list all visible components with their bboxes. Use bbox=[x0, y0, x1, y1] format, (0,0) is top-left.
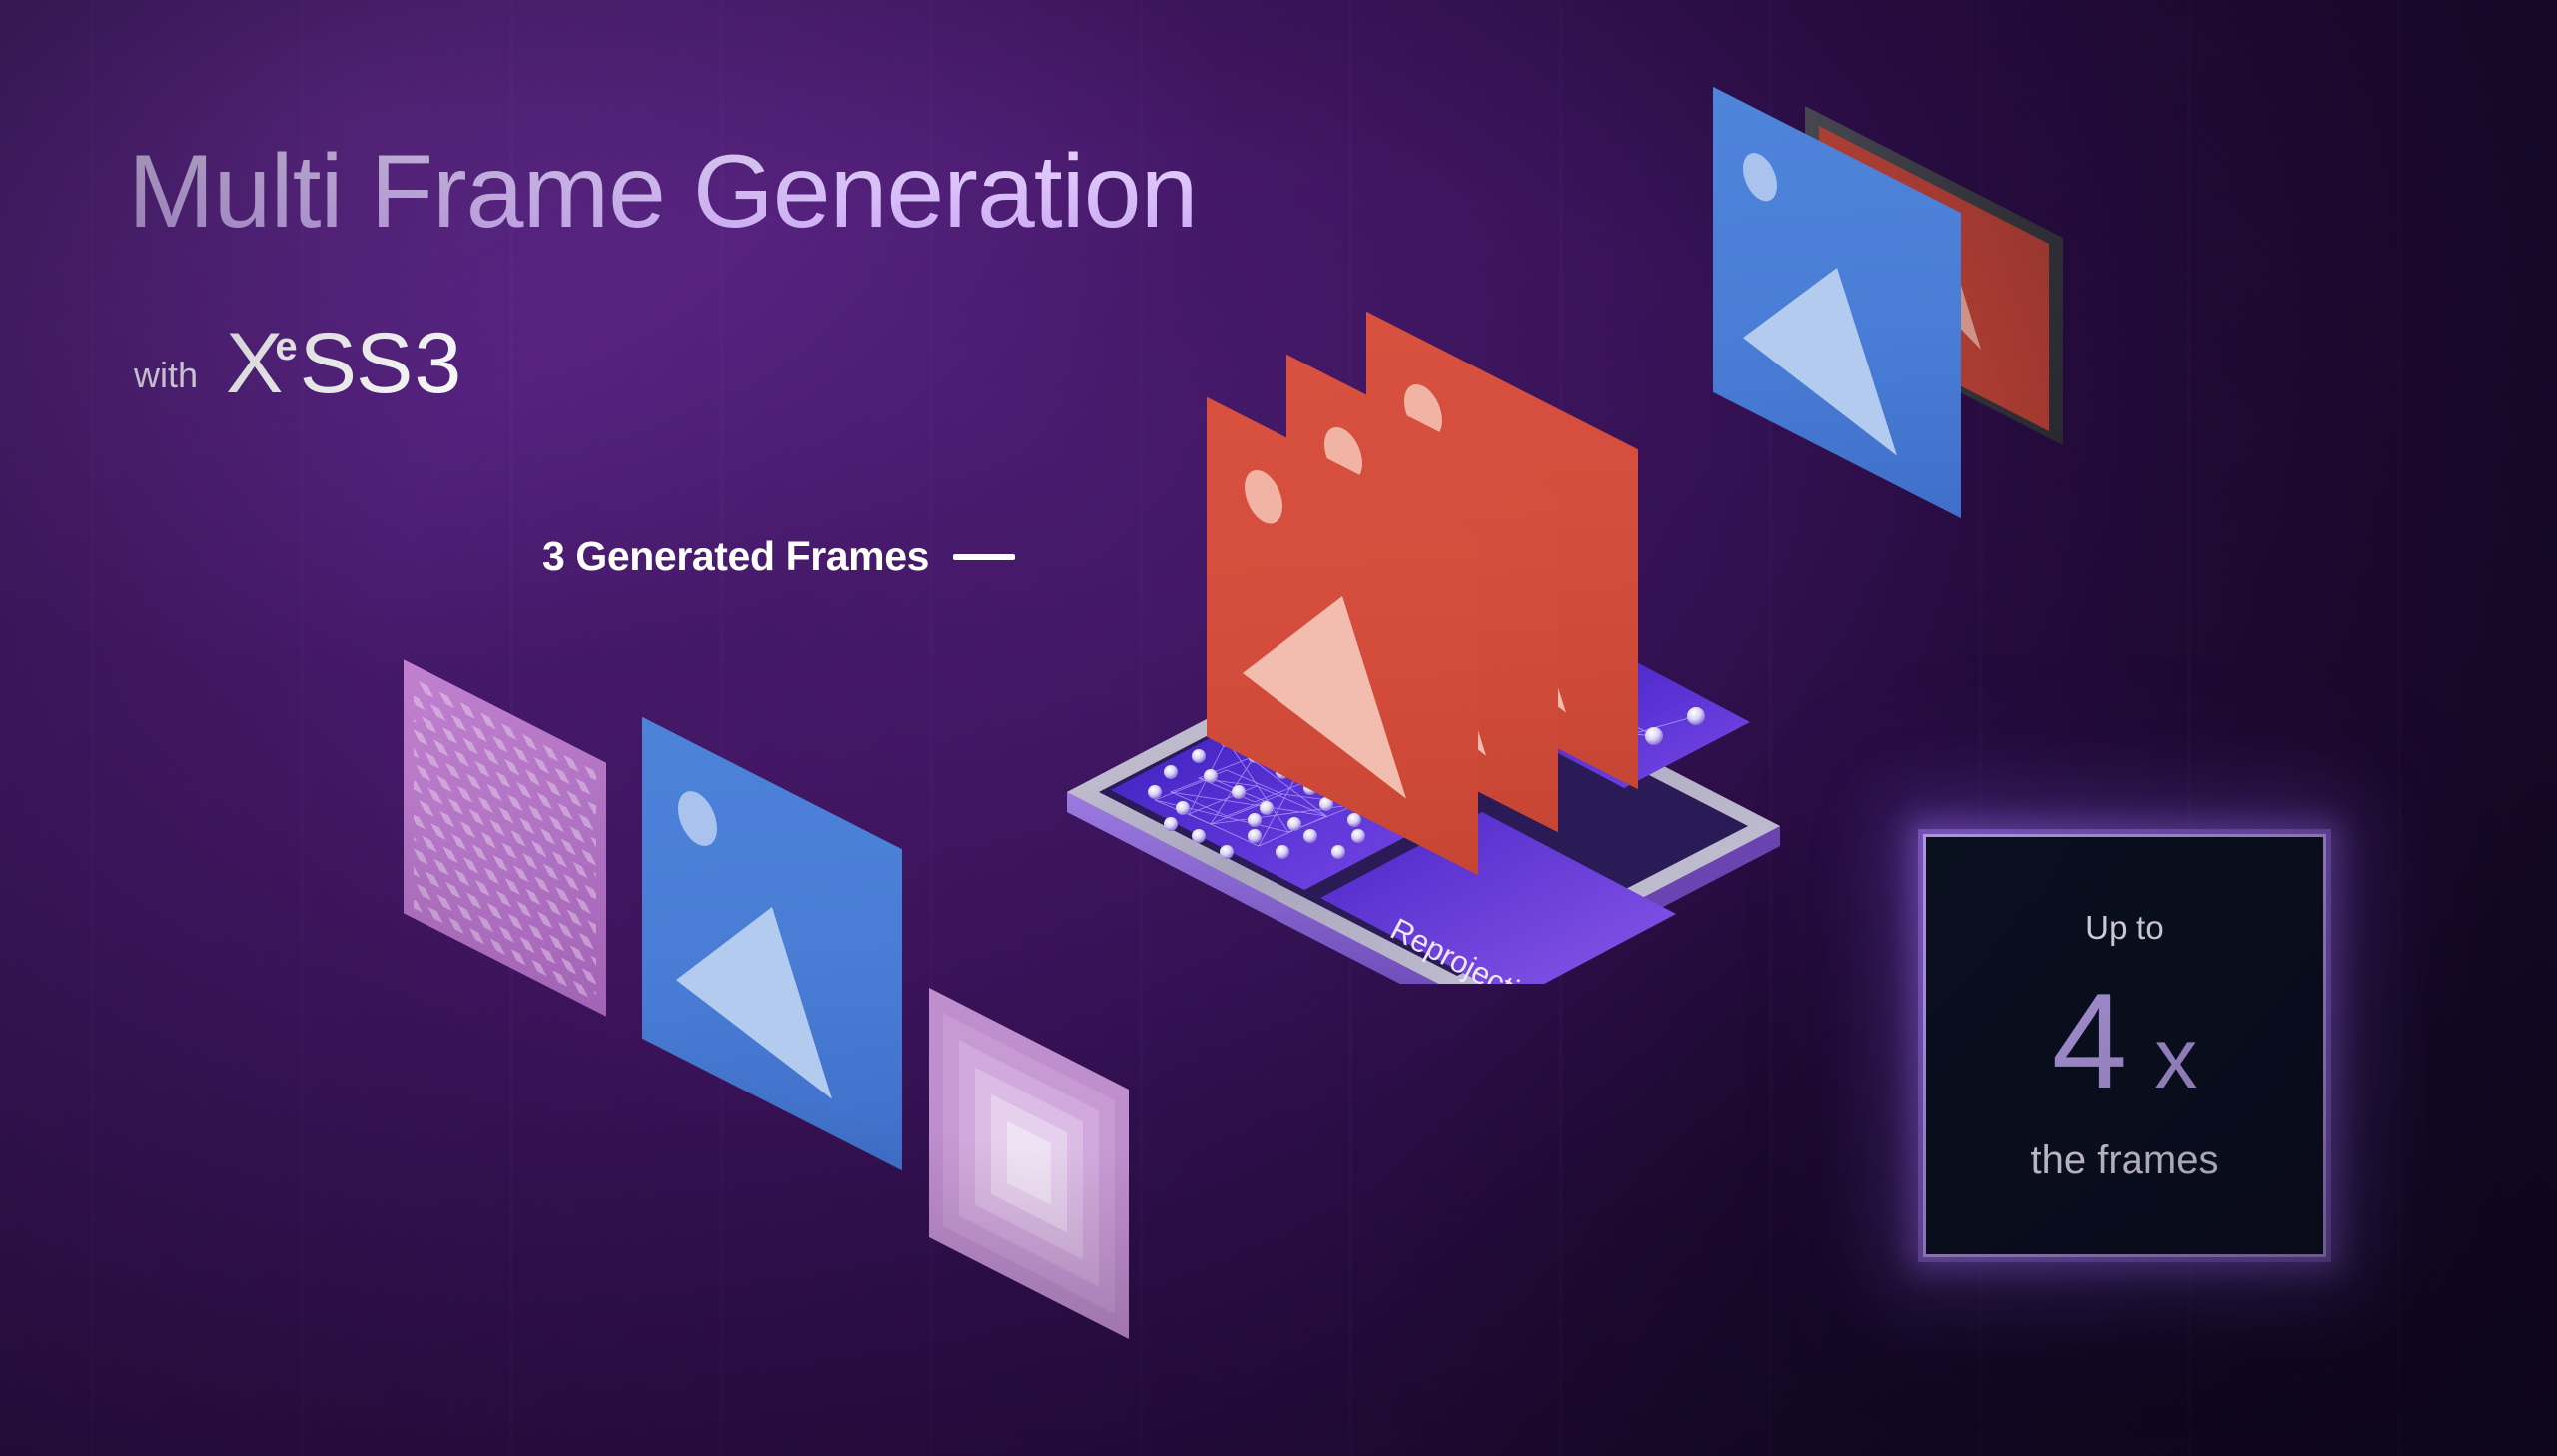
motion-vector-arrows bbox=[414, 674, 596, 1001]
output-monitor bbox=[1733, 70, 2113, 539]
xess-logo-x: X bbox=[226, 325, 281, 403]
title-block: Multi Frame Generation bbox=[128, 140, 1197, 244]
callout-unit: x bbox=[2154, 1016, 2197, 1101]
motion-vectors-plane bbox=[404, 659, 606, 1016]
scene-mountain-icon bbox=[642, 717, 902, 1170]
callout-number-row: 4 x bbox=[2052, 973, 2198, 1108]
generated-frames-caption: 3 Generated Frames bbox=[542, 533, 1015, 580]
stat-callout-box: Up to 4 x the frames bbox=[1923, 834, 2326, 1257]
callout-suffix: the frames bbox=[2031, 1138, 2219, 1183]
xess-logo-superscript-e: e bbox=[275, 327, 297, 366]
with-label: with bbox=[134, 358, 198, 403]
brand-row: with X e SS 3 bbox=[134, 325, 461, 403]
callout-prefix: Up to bbox=[2085, 909, 2164, 947]
generated-frames-label: 3 Generated Frames bbox=[542, 533, 929, 580]
xess-logo-version: 3 bbox=[414, 325, 461, 403]
scene-frame-plane bbox=[642, 717, 902, 1170]
caption-connector-line bbox=[953, 554, 1015, 560]
callout-number: 4 bbox=[2052, 973, 2128, 1108]
xess-logo: X e SS 3 bbox=[226, 325, 461, 403]
xess-logo-ss: SS bbox=[300, 325, 413, 403]
depth-buffer-plane bbox=[929, 988, 1129, 1339]
page-title: Multi Frame Generation bbox=[128, 140, 1197, 244]
slide-canvas: Reprojection bbox=[0, 0, 2557, 1456]
